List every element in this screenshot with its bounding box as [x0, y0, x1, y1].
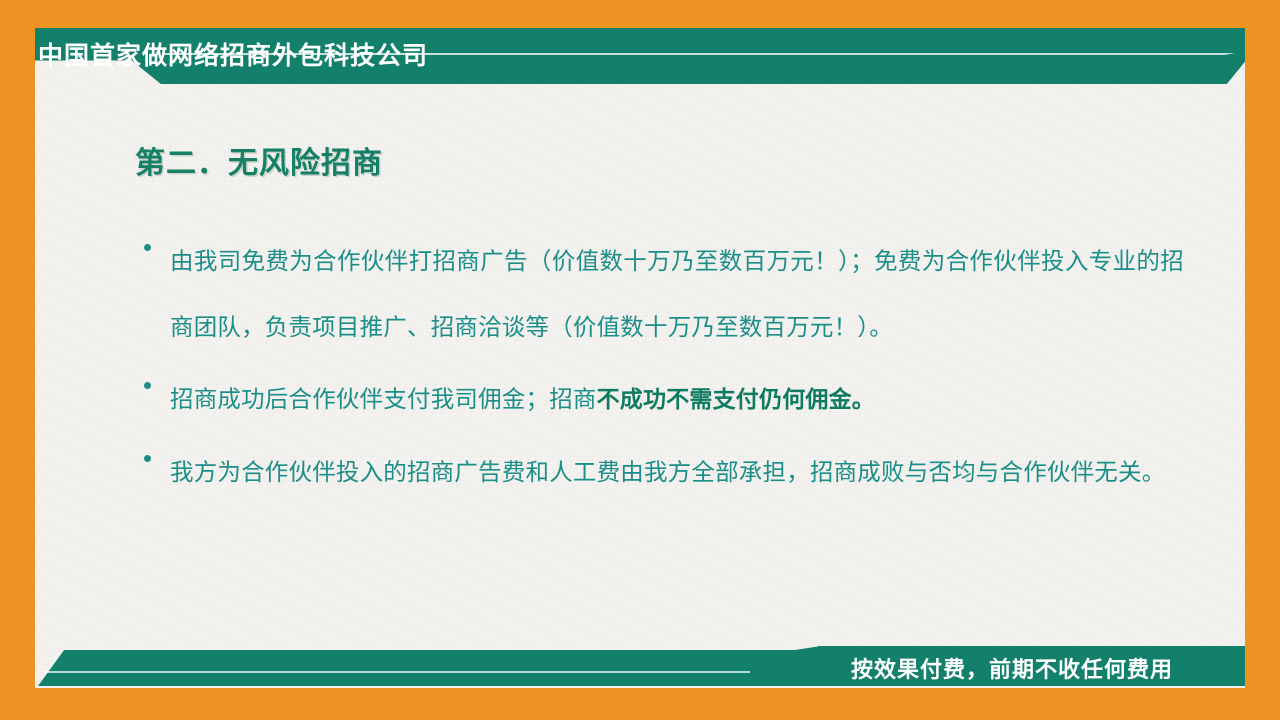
- bullet-dot-icon: [144, 366, 170, 389]
- bullet-text: 由我司免费为合作伙伴打招商广告（价值数十万乃至数百万元！）；免费为合作伙伴投入专…: [170, 228, 1184, 360]
- bullet-text: 招商成功后合作伙伴支付我司佣金；招商不成功不需支付仍何佣金。: [170, 366, 1184, 433]
- bullet-dot-icon: [144, 228, 170, 251]
- bullet-list: 由我司免费为合作伙伴打招商广告（价值数十万乃至数百万元！）；免费为合作伙伴投入专…: [144, 228, 1184, 511]
- bullet-text: 我方为合作伙伴投入的招商广告费和人工费由我方全部承担，招商成败与否均与合作伙伴无…: [170, 439, 1184, 505]
- bullet-plain-text: 我方为合作伙伴投入的招商广告费和人工费由我方全部承担，招商成败与否均与合作伙伴无…: [170, 458, 1165, 486]
- bullet-emphasis-text: 不成功不需支付仍何佣金。: [597, 387, 875, 413]
- bullet-plain-text: 由我司免费为合作伙伴打招商广告（价值数十万乃至数百万元！）；免费为合作伙伴投入专…: [170, 247, 1184, 341]
- bullet-item: 由我司免费为合作伙伴打招商广告（价值数十万乃至数百万元！）；免费为合作伙伴投入专…: [144, 228, 1184, 360]
- footer-green-band-left: [38, 650, 828, 686]
- header-banner-text: 中国首家做网络招商外包科技公司: [38, 36, 428, 72]
- page-title: 第二．无风险招商: [135, 138, 383, 182]
- slide: 中国首家做网络招商外包科技公司 第二．无风险招商 由我司免费为合作伙伴打招商广告…: [0, 0, 1280, 720]
- bullet-item: 我方为合作伙伴投入的招商广告费和人工费由我方全部承担，招商成败与否均与合作伙伴无…: [144, 439, 1184, 505]
- bullet-item: 招商成功后合作伙伴支付我司佣金；招商不成功不需支付仍何佣金。: [144, 366, 1184, 433]
- bullet-plain-text: 招商成功后合作伙伴支付我司佣金；招商: [170, 385, 597, 413]
- footer-tagline: 按效果付费，前期不收任何费用: [851, 650, 1173, 686]
- footer-hairline-divider: [45, 671, 750, 673]
- bullet-dot-icon: [144, 439, 170, 462]
